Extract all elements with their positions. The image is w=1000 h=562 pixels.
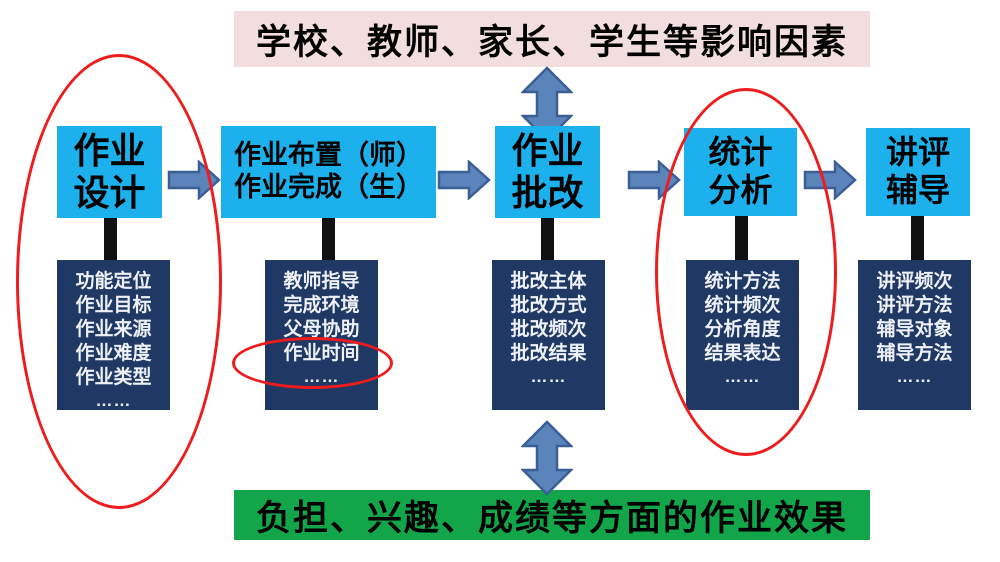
detail-3-1: 批改主体 — [492, 270, 605, 294]
stage-box-homework-assign-complete[interactable]: 作业布置（师） 作业完成（生） — [221, 126, 436, 218]
stage-2-line-2: 作业完成（生） — [234, 172, 423, 204]
detail-4-more: …… — [686, 366, 799, 387]
detail-4-1: 统计方法 — [686, 270, 799, 294]
stage-5-line-1: 讲评 — [886, 134, 950, 172]
detail-3-3: 批改频次 — [492, 318, 605, 342]
homework-effect-banner: 负担、兴趣、成绩等方面的作业效果 — [234, 490, 870, 540]
detail-2-2: 完成环境 — [265, 294, 378, 318]
flow-arrow-1 — [167, 160, 221, 200]
detail-1-3: 作业来源 — [57, 318, 170, 342]
detail-1-4: 作业难度 — [57, 342, 170, 366]
stage-box-review-tutoring[interactable]: 讲评 辅导 — [866, 128, 970, 216]
detail-3-more: …… — [492, 366, 605, 387]
detail-1-1: 功能定位 — [57, 270, 170, 294]
detail-box-review-tutoring: 讲评频次 讲评方法 辅导对象 辅导方法 …… — [858, 260, 971, 410]
diagram-canvas: 学校、教师、家长、学生等影响因素 负担、兴趣、成绩等方面的作业效果 — [0, 0, 1000, 562]
flow-arrow-2 — [437, 160, 491, 200]
stage-4-line-1: 统计 — [708, 134, 772, 172]
stage-2-line-1: 作业布置（师） — [234, 140, 423, 172]
flow-arrow-4 — [803, 160, 857, 200]
stage-box-homework-correct[interactable]: 作业 批改 — [495, 126, 600, 218]
detail-1-more: …… — [57, 390, 170, 411]
detail-2-1: 教师指导 — [265, 270, 378, 294]
stage-3-line-1: 作业 — [511, 130, 583, 172]
stage-5-line-2: 辅导 — [886, 172, 950, 210]
bottom-link-double-arrow — [521, 420, 573, 496]
detail-5-2: 讲评方法 — [858, 294, 971, 318]
stage-box-statistical-analysis[interactable]: 统计 分析 — [684, 128, 797, 216]
stage-3-line-2: 批改 — [511, 172, 583, 214]
flow-arrow-3 — [627, 160, 681, 200]
detail-2-4: 作业时间 — [265, 342, 378, 366]
detail-3-2: 批改方式 — [492, 294, 605, 318]
detail-box-statistical-analysis: 统计方法 统计频次 分析角度 结果表达 …… — [686, 260, 799, 410]
stem-stage-4 — [735, 216, 748, 260]
detail-5-1: 讲评频次 — [858, 270, 971, 294]
stem-stage-1 — [104, 218, 117, 262]
detail-box-homework-assign-complete: 教师指导 完成环境 父母协助 作业时间 …… — [265, 260, 378, 410]
detail-box-homework-correct: 批改主体 批改方式 批改频次 批改结果 …… — [492, 260, 605, 410]
detail-5-more: …… — [858, 366, 971, 387]
detail-3-4: 批改结果 — [492, 342, 605, 366]
stage-1-line-1: 作业 — [73, 130, 145, 172]
stem-stage-3 — [541, 218, 554, 262]
stage-1-line-2: 设计 — [73, 172, 145, 214]
detail-1-5: 作业类型 — [57, 366, 170, 390]
detail-5-3: 辅导对象 — [858, 318, 971, 342]
stem-stage-2 — [322, 218, 335, 262]
stage-4-line-2: 分析 — [708, 172, 772, 210]
detail-5-4: 辅导方法 — [858, 342, 971, 366]
stem-stage-5 — [911, 216, 924, 260]
detail-4-4: 结果表达 — [686, 342, 799, 366]
detail-4-3: 分析角度 — [686, 318, 799, 342]
detail-4-2: 统计频次 — [686, 294, 799, 318]
detail-2-more: …… — [265, 366, 378, 387]
detail-1-2: 作业目标 — [57, 294, 170, 318]
stage-box-homework-design[interactable]: 作业 设计 — [57, 126, 162, 218]
detail-box-homework-design: 功能定位 作业目标 作业来源 作业难度 作业类型 …… — [57, 260, 170, 410]
detail-2-3: 父母协助 — [265, 318, 378, 342]
influence-factors-banner: 学校、教师、家长、学生等影响因素 — [234, 11, 870, 67]
